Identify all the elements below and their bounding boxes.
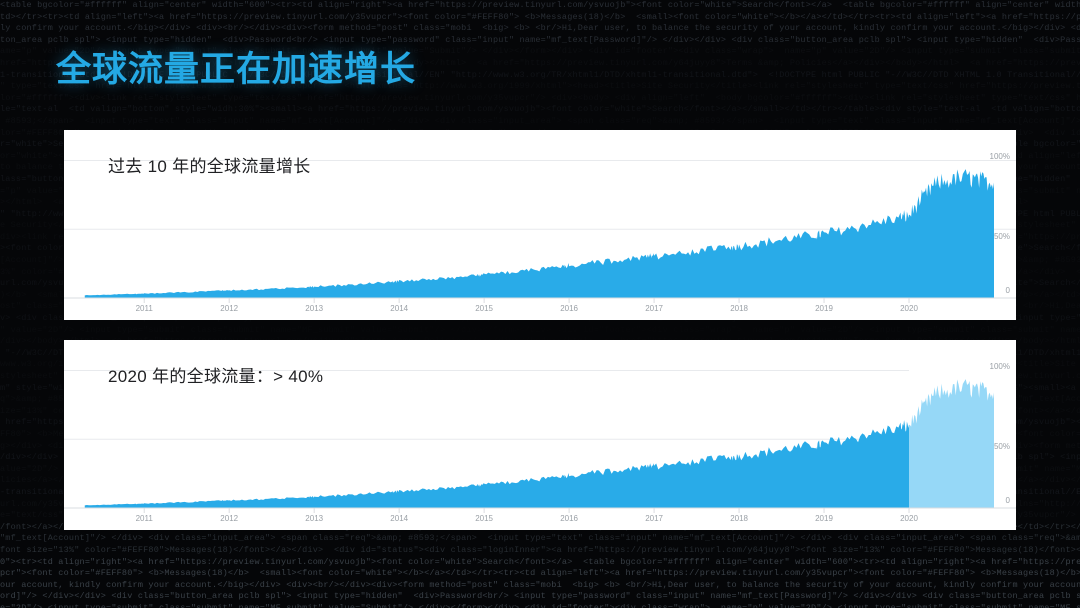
x-axis-label: 2018 <box>730 304 748 313</box>
chart-2-ytick-100: 100% <box>990 362 1010 371</box>
chart-1-ytick-0: 0 <box>1006 286 1010 295</box>
x-axis-label: 2018 <box>730 514 748 523</box>
presentation-slide: <table bgcolor="#ffffff" align="center" … <box>0 0 1080 608</box>
x-axis-label: 2013 <box>305 514 323 523</box>
x-axis-label: 2014 <box>390 514 408 523</box>
chart-2-ytick-50: 50% <box>994 442 1010 451</box>
x-axis-label: 2015 <box>475 304 493 313</box>
x-axis-label: 2012 <box>220 514 238 523</box>
x-axis-label: 2020 <box>900 514 918 523</box>
x-axis-label: 2016 <box>560 514 578 523</box>
x-axis-label: 2011 <box>136 514 153 523</box>
x-axis-label: 2016 <box>560 304 578 313</box>
x-axis-label: 2014 <box>390 304 408 313</box>
chart-2-title: 2020 年的全球流量：> 40% <box>108 362 323 387</box>
chart-1-x-axis-labels: 2011201220132014201520162017201820192020 <box>64 304 1016 316</box>
chart-2-x-axis-labels: 2011201220132014201520162017201820192020 <box>64 514 1016 526</box>
x-axis-label: 2012 <box>220 304 238 313</box>
page-title: 全球流量正在加速增长 <box>56 41 416 92</box>
x-axis-label: 2011 <box>136 304 153 313</box>
chart-1-ytick-50: 50% <box>994 232 1010 241</box>
x-axis-label: 2015 <box>475 514 493 523</box>
chart-1-ytick-100: 100% <box>990 152 1010 161</box>
x-axis-label: 2013 <box>305 304 323 313</box>
chart-card-past-10-years: 过去 10 年的全球流量增长 100% 50% 0 20112012201320… <box>64 130 1016 320</box>
x-axis-label: 2017 <box>645 304 663 313</box>
chart-1-title: 过去 10 年的全球流量增长 <box>108 152 311 177</box>
x-axis-label: 2017 <box>645 514 663 523</box>
x-axis-label: 2019 <box>815 514 833 523</box>
chart-card-2020-traffic: 2020 年的全球流量：> 40% 100% 50% 0 20112012201… <box>64 340 1016 530</box>
x-axis-label: 2019 <box>815 304 833 313</box>
chart-2-ytick-0: 0 <box>1006 496 1010 505</box>
x-axis-label: 2020 <box>900 304 918 313</box>
